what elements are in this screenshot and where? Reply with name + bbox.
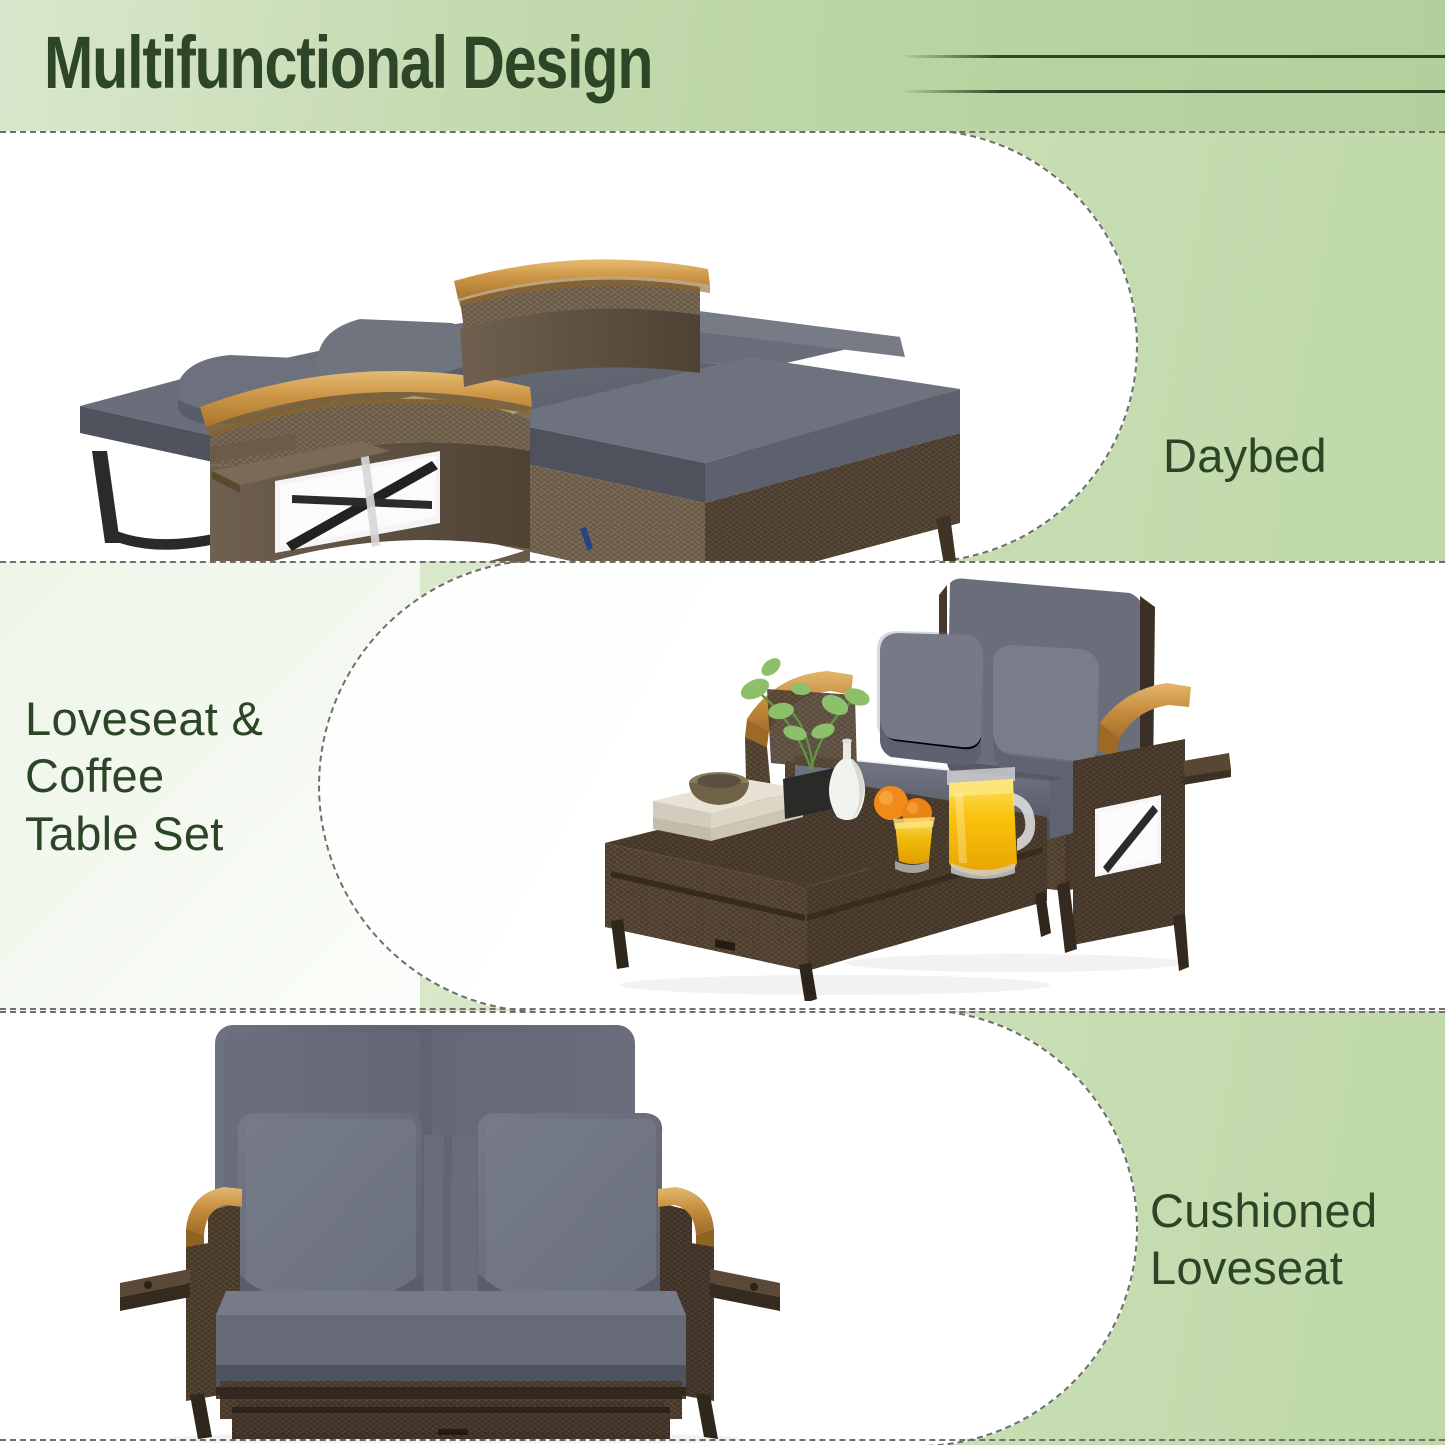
header-rule-top — [905, 55, 1445, 58]
panel-daybed-top-divider — [0, 131, 1445, 133]
caption-daybed: Daybed — [1163, 427, 1327, 484]
header-rule-bottom — [905, 90, 1445, 93]
daybed-product-image — [60, 151, 960, 561]
caption-cushioned-loveseat: Cushioned Loveseat — [1150, 1182, 1377, 1297]
header-banner: Multifunctional Design — [0, 0, 1445, 131]
page-title: Multifunctional Design — [44, 24, 652, 102]
cushioned-loveseat-product-image — [120, 1015, 820, 1443]
panel-loveseat-top-divider — [0, 561, 1445, 563]
loveseat-coffee-table-product-image — [595, 571, 1235, 1001]
panel-loveseat-bottom-divider — [0, 1008, 1445, 1010]
panel-loveseat-coffee-table: Loveseat & Coffee Table Set — [0, 561, 1445, 1011]
infographic-root: Multifunctional Design — [0, 0, 1445, 1445]
panel-daybed: Daybed — [0, 131, 1445, 561]
caption-loveseat-coffee-table: Loveseat & Coffee Table Set — [25, 690, 263, 862]
panel-cushioned-loveseat: Cushioned Loveseat — [0, 1011, 1445, 1445]
panel-cushioned-top-divider — [0, 1011, 1445, 1013]
